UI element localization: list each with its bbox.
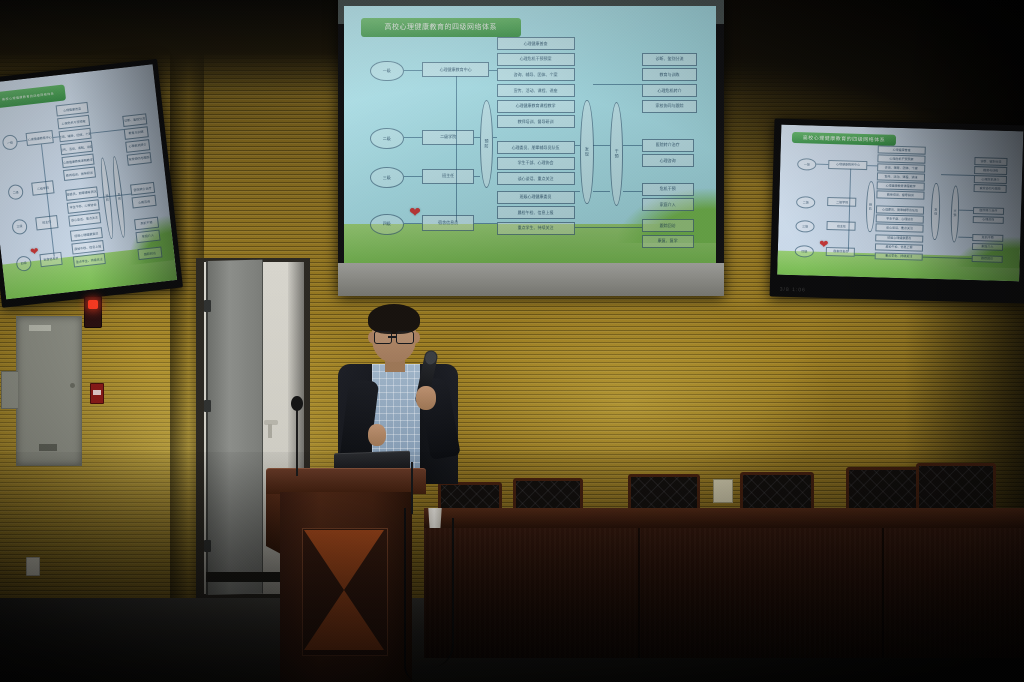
pull-station-label xyxy=(93,390,101,395)
spine-label: 预防 xyxy=(483,139,489,149)
eyeglasses-bridge xyxy=(388,336,396,338)
connector xyxy=(91,129,124,134)
door-hinge xyxy=(204,540,211,552)
gooseneck-microphone-head xyxy=(291,396,303,411)
item-node: 班级心理健康委员 xyxy=(69,227,103,241)
connector xyxy=(575,191,581,192)
outcome-node: 心理咨询 xyxy=(642,154,694,167)
outcome-node: 家校协同与跟踪 xyxy=(642,100,698,113)
door-handle[interactable] xyxy=(264,420,278,425)
level-node: 二级学院 xyxy=(827,197,856,207)
item-node: 心理健康教育课程教学 xyxy=(61,154,95,168)
item-node: 班级心理健康委员 xyxy=(875,234,924,243)
outcome-node: 心理咨询 xyxy=(972,216,1004,224)
level-node: 宿舍信息员 xyxy=(39,252,63,267)
tier-node: 二级 xyxy=(370,128,403,149)
table-wood-grain xyxy=(424,528,1024,658)
outcome-node: 家校协同与跟踪 xyxy=(973,184,1007,192)
item-node: 谈心谈话、重点关注 xyxy=(497,172,575,185)
connector xyxy=(623,145,642,146)
electrical-panel-label xyxy=(29,325,51,331)
item-node: 宣传、活动、课程、讲座 xyxy=(60,141,94,155)
podium-top-surface xyxy=(266,468,426,494)
connector xyxy=(593,145,610,146)
tier-node: 三级 xyxy=(11,218,28,235)
connector xyxy=(18,140,27,142)
item-node: 心理健康普查 xyxy=(55,102,89,116)
connector xyxy=(593,191,610,192)
outcome-node: 家庭介入 xyxy=(642,198,694,211)
item-node: 晨检午检、信息上报 xyxy=(497,206,575,219)
eyeglasses-lens xyxy=(396,331,414,344)
item-node: 教师培训、督导研训 xyxy=(876,190,925,199)
conference-table-front xyxy=(424,528,1024,658)
connector xyxy=(456,76,457,222)
spine-label: 发现 xyxy=(584,147,590,157)
level-node: 班主任 xyxy=(422,169,474,185)
door-leaf[interactable] xyxy=(206,260,263,595)
spine-node: 预防 xyxy=(480,100,493,188)
tier-node: 二级 xyxy=(7,184,24,201)
wall-outlet[interactable] xyxy=(26,557,40,576)
item-node: 心理危机干预预案 xyxy=(497,53,575,66)
outcome-node: 康复、复学 xyxy=(642,235,694,248)
left-monitor-screen: 高校心理健康教育的四级网络体系 一级 心理健康教育中心 二级 二级学院 三级 班… xyxy=(0,64,177,299)
outcome-node: 跟踪回访 xyxy=(971,255,1003,263)
heart-cursor-icon: ❤ xyxy=(819,240,829,251)
slide-title: 高校心理健康教育的四级网络体系 xyxy=(361,18,521,38)
connector xyxy=(474,223,496,224)
item-node: 心理健康普查 xyxy=(497,37,575,50)
item-node: 学生干部、心理协会 xyxy=(66,199,100,213)
connector xyxy=(959,210,972,211)
gooseneck-microphone-stem xyxy=(296,402,298,476)
electrical-panel-vent xyxy=(39,444,57,451)
outcome-node: 诊断、鉴别分流 xyxy=(974,157,1008,165)
outcome-node: 跟踪回访 xyxy=(642,219,694,232)
tier-node: 三级 xyxy=(370,167,403,188)
connector xyxy=(848,169,851,251)
item-node: 咨询、辅导、团体、个案 xyxy=(877,163,926,172)
item-node: 班级心理健康委员 xyxy=(497,191,575,204)
tier-node: 一级 xyxy=(797,158,817,171)
connector xyxy=(941,174,974,176)
item-node: 宣传、活动、课程、讲座 xyxy=(877,172,926,181)
photo-scene: 高校心理健康教育的四级网络体系 一级 心理健康教育中心 二级 二级学院 三级 班… xyxy=(0,0,1024,682)
outcome-node: 医院转介治疗 xyxy=(973,207,1005,215)
podium xyxy=(266,468,426,682)
connector xyxy=(489,70,496,71)
hair xyxy=(368,304,420,334)
outcome-node: 诊断、鉴别分流 xyxy=(642,53,698,66)
right-hand xyxy=(416,386,436,410)
level-node: 二级学院 xyxy=(31,180,55,195)
item-node: 教师培训、督导研训 xyxy=(497,115,575,128)
spine-label: 发现 xyxy=(934,207,938,215)
item-node: 心理委员、朋辈辅导员队伍 xyxy=(65,186,99,200)
outcome-node: 心理危机转介 xyxy=(973,175,1007,183)
door-hinge xyxy=(204,300,211,312)
item-node: 咨询、辅导、团体、个案 xyxy=(58,128,92,142)
connector xyxy=(623,191,642,192)
heart-cursor-icon: ❤ xyxy=(409,205,421,219)
item-node: 重点学生、持续关注 xyxy=(874,252,923,261)
connector xyxy=(474,137,480,138)
item-node: 晨检午检、信息上报 xyxy=(71,240,105,254)
item-node: 咨询、辅导、团体、个案 xyxy=(497,68,575,81)
level-node: 心理健康教育中心 xyxy=(422,62,489,78)
connector xyxy=(404,176,423,177)
fire-alarm-pull-station[interactable] xyxy=(90,383,104,404)
emergency-light xyxy=(84,296,102,328)
projection-screen-image: 高校心理健康教育的四级网络体系 一级 心理健康教育中心 二级 二级学院 三级 班… xyxy=(344,6,716,266)
item-node: 心理健康普查 xyxy=(877,145,926,154)
spine-label: 干预 xyxy=(953,209,957,217)
projection-screen-bottom-strip xyxy=(338,263,724,296)
spine-label: 干预 xyxy=(614,149,620,159)
tier-node: 一级 xyxy=(1,134,18,151)
projected-slide: 高校心理健康教育的四级网络体系 一级 心理健康教育中心 二级 二级学院 三级 班… xyxy=(344,6,716,266)
conference-table-top xyxy=(424,508,1024,530)
outcome-node: 危机干预 xyxy=(972,234,1004,242)
item-node: 重点学生、持续关注 xyxy=(497,222,575,235)
left-hand xyxy=(368,424,386,446)
tier-node: 四级 xyxy=(370,214,403,235)
level-node: 宿舍信息员 xyxy=(422,215,474,231)
wall-data-plate xyxy=(713,479,733,503)
connector xyxy=(867,165,877,166)
connector xyxy=(404,137,423,138)
connector xyxy=(41,145,55,257)
connector xyxy=(575,145,581,146)
level-node: 心理健康教育中心 xyxy=(829,160,868,170)
left-monitor: 高校心理健康教育的四级网络体系 一级 心理健康教育中心 二级 二级学院 三级 班… xyxy=(0,59,183,308)
electrical-panel xyxy=(16,316,82,466)
electrical-panel-cutout xyxy=(1,371,18,409)
item-node: 心理委员、朋辈辅导员队伍 xyxy=(497,141,575,154)
tier-node: 三级 xyxy=(795,220,815,233)
left-monitor-slide: 高校心理健康教育的四级网络体系 一级 心理健康教育中心 二级 二级学院 三级 班… xyxy=(0,64,177,299)
ear xyxy=(413,332,420,343)
tier-node: 二级 xyxy=(796,196,816,209)
connector xyxy=(404,70,423,71)
table-microphone-stem xyxy=(411,462,413,514)
outcome-node: 教育与训练 xyxy=(124,126,149,139)
item-node: 教师培训、督导研训 xyxy=(63,167,97,181)
outcome-node: 危机干预 xyxy=(642,183,694,196)
item-node: 谈心谈话、重点关注 xyxy=(68,212,102,226)
outcome-node: 医院转介治疗 xyxy=(642,139,694,152)
item-node: 心理危机干预预案 xyxy=(57,115,91,129)
connector xyxy=(493,137,497,138)
level-node: 二级学院 xyxy=(422,130,474,146)
outcome-node: 心理危机转介 xyxy=(642,84,698,97)
outcome-node: 心理危机转介 xyxy=(125,139,150,152)
table-panel-seam xyxy=(882,528,884,658)
monitor-status-text: 3/8 1:06 xyxy=(780,287,806,294)
outcome-node: 教育与训练 xyxy=(642,68,698,81)
right-monitor: 高校心理健康教育的四级网络体系 一级 心理健康教育中心 二级 二级学院 三级 班… xyxy=(770,118,1024,303)
connector xyxy=(474,176,480,177)
connector xyxy=(575,227,642,228)
table-panel-seam xyxy=(638,528,640,658)
right-monitor-slide: 高校心理健康教育的四级网络体系 一级 心理健康教育中心 二级 二级学院 三级 班… xyxy=(777,125,1023,282)
outcome-node: 诊断、鉴别分流 xyxy=(122,113,147,126)
power-cable xyxy=(430,518,454,668)
item-node: 学生干部、心理协会 xyxy=(497,157,575,170)
item-node: 心理危机干预预案 xyxy=(877,154,926,163)
door-hinge xyxy=(204,400,211,412)
item-node: 心理委员、朋辈辅导员队伍 xyxy=(876,205,925,214)
level-node: 班主任 xyxy=(35,215,59,230)
item-node: 心理健康教育课程教学 xyxy=(497,100,575,113)
level-node: 宿舍信息员 xyxy=(826,247,855,257)
item-node: 谈心谈话、重点关注 xyxy=(875,223,924,232)
outcome-node: 教育与训练 xyxy=(974,166,1008,174)
item-node: 宣传、活动、课程、讲座 xyxy=(497,84,575,97)
item-node: 晨检午检、信息上报 xyxy=(875,243,924,252)
tier-node: 一级 xyxy=(370,61,403,82)
item-node: 学生干部、心理协会 xyxy=(875,214,924,223)
spine-node: 发现 xyxy=(580,100,593,204)
connector xyxy=(404,223,423,224)
power-cable xyxy=(404,508,420,682)
level-node: 班主任 xyxy=(827,221,856,231)
connector xyxy=(817,163,829,164)
projection-screen: 高校心理健康教育的四级网络体系 一级 心理健康教育中心 二级 二级学院 三级 班… xyxy=(338,0,724,296)
slide-title: 高校心理健康教育的四级网络体系 xyxy=(792,132,896,146)
podium-emblem-upper-triangle xyxy=(304,530,384,590)
outcome-node: 家庭介入 xyxy=(972,243,1004,251)
emergency-light-lamp xyxy=(88,300,98,309)
spine-node: 预防 xyxy=(866,181,876,232)
item-node: 心理健康教育课程教学 xyxy=(876,181,925,190)
spine-label: 预防 xyxy=(868,203,872,211)
outcome-node: 家校协同与跟踪 xyxy=(127,152,152,165)
electrical-panel-latch[interactable] xyxy=(70,383,75,388)
connector xyxy=(593,84,641,85)
right-monitor-screen: 高校心理健康教育的四级网络体系 一级 心理健康教育中心 二级 二级学院 三级 班… xyxy=(777,125,1023,282)
podium-emblem-lower-triangle xyxy=(304,590,384,650)
heart-cursor-icon: ❤ xyxy=(30,248,39,259)
